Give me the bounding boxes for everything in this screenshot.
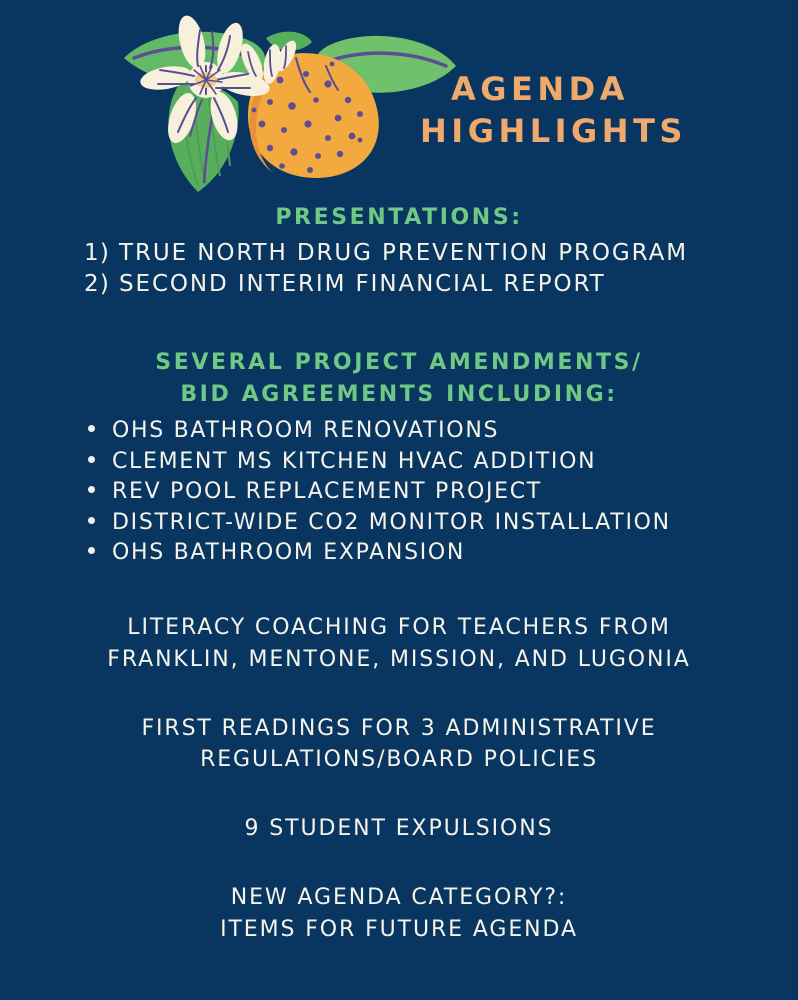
list-item: 1) TRUE NORTH DRUG PREVENTION PROGRAM (84, 238, 798, 270)
spacer (0, 301, 798, 347)
bullet-dot-icon (88, 425, 95, 432)
section-presentations: PRESENTATIONS: 1) TRUE NORTH DRUG PREVEN… (0, 202, 798, 301)
list-item-label: SECOND INTERIM FINANCIAL REPORT (119, 269, 606, 301)
section-project-amendments: SEVERAL PROJECT AMENDMENTS/ BID AGREEMEN… (0, 347, 798, 568)
presentations-list: 1) TRUE NORTH DRUG PREVENTION PROGRAM 2)… (0, 238, 798, 301)
section-student-expulsions: 9 STUDENT EXPULSIONS (0, 813, 798, 844)
amendments-heading-line-1: SEVERAL PROJECT AMENDMENTS/ (0, 347, 798, 379)
bullet-dot-icon (88, 547, 95, 554)
list-item-label: CLEMENT MS KITCHEN HVAC ADDITION (112, 447, 596, 477)
spacer (0, 844, 798, 882)
list-marker: 1) (84, 240, 110, 266)
bullet-dot-icon (88, 486, 95, 493)
title-line-1: AGENDA (420, 68, 660, 110)
new-category-line-2: ITEMS FOR FUTURE AGENDA (0, 914, 798, 945)
poster-content: PRESENTATIONS: 1) TRUE NORTH DRUG PREVEN… (0, 200, 798, 945)
section-first-readings: FIRST READINGS FOR 3 ADMINISTRATIVE REGU… (0, 713, 798, 775)
list-item-label: REV POOL REPLACEMENT PROJECT (112, 477, 542, 507)
list-item-label: OHS BATHROOM EXPANSION (112, 538, 465, 568)
section-literacy-coaching: LITERACY COACHING FOR TEACHERS FROM FRAN… (0, 612, 798, 674)
list-marker: 2) (84, 271, 110, 297)
list-item: REV POOL REPLACEMENT PROJECT (88, 477, 798, 507)
first-readings-line-2: REGULATIONS/BOARD POLICIES (0, 744, 798, 775)
amendments-heading-line-2: BID AGREEMENTS INCLUDING: (0, 379, 798, 411)
bullet-dot-icon (88, 517, 95, 524)
orange-fruit-with-blossom-and-leaves-icon (120, 14, 460, 204)
list-item: 2) SECOND INTERIM FINANCIAL REPORT (84, 269, 798, 301)
literacy-line-1: LITERACY COACHING FOR TEACHERS FROM (0, 612, 798, 643)
list-item-label: TRUE NORTH DRUG PREVENTION PROGRAM (119, 238, 688, 270)
list-item-label: DISTRICT-WIDE CO2 MONITOR INSTALLATION (112, 508, 671, 538)
amendments-bullet-list: OHS BATHROOM RENOVATIONS CLEMENT MS KITC… (0, 416, 798, 568)
first-readings-line-1: FIRST READINGS FOR 3 ADMINISTRATIVE (0, 713, 798, 744)
bullet-dot-icon (88, 456, 95, 463)
spacer (0, 568, 798, 612)
section-new-agenda-category: NEW AGENDA CATEGORY?: ITEMS FOR FUTURE A… (0, 882, 798, 944)
list-item-label: OHS BATHROOM RENOVATIONS (112, 416, 499, 446)
list-item: CLEMENT MS KITCHEN HVAC ADDITION (88, 447, 798, 477)
agenda-highlights-poster: AGENDA HIGHLIGHTS PRESENTATIONS: 1) TRUE… (0, 0, 798, 1000)
list-item: OHS BATHROOM EXPANSION (88, 538, 798, 568)
literacy-line-2: FRANKLIN, MENTONE, MISSION, AND LUGONIA (0, 644, 798, 675)
spacer (0, 675, 798, 713)
poster-header: AGENDA HIGHLIGHTS (0, 0, 798, 200)
list-item: DISTRICT-WIDE CO2 MONITOR INSTALLATION (88, 508, 798, 538)
presentations-heading: PRESENTATIONS: (0, 202, 798, 234)
new-category-line-1: NEW AGENDA CATEGORY?: (0, 882, 798, 913)
spacer (0, 775, 798, 813)
expulsions-line-1: 9 STUDENT EXPULSIONS (0, 813, 798, 844)
page-title: AGENDA HIGHLIGHTS (420, 68, 660, 152)
list-item: OHS BATHROOM RENOVATIONS (88, 416, 798, 446)
title-line-2: HIGHLIGHTS (420, 110, 660, 152)
